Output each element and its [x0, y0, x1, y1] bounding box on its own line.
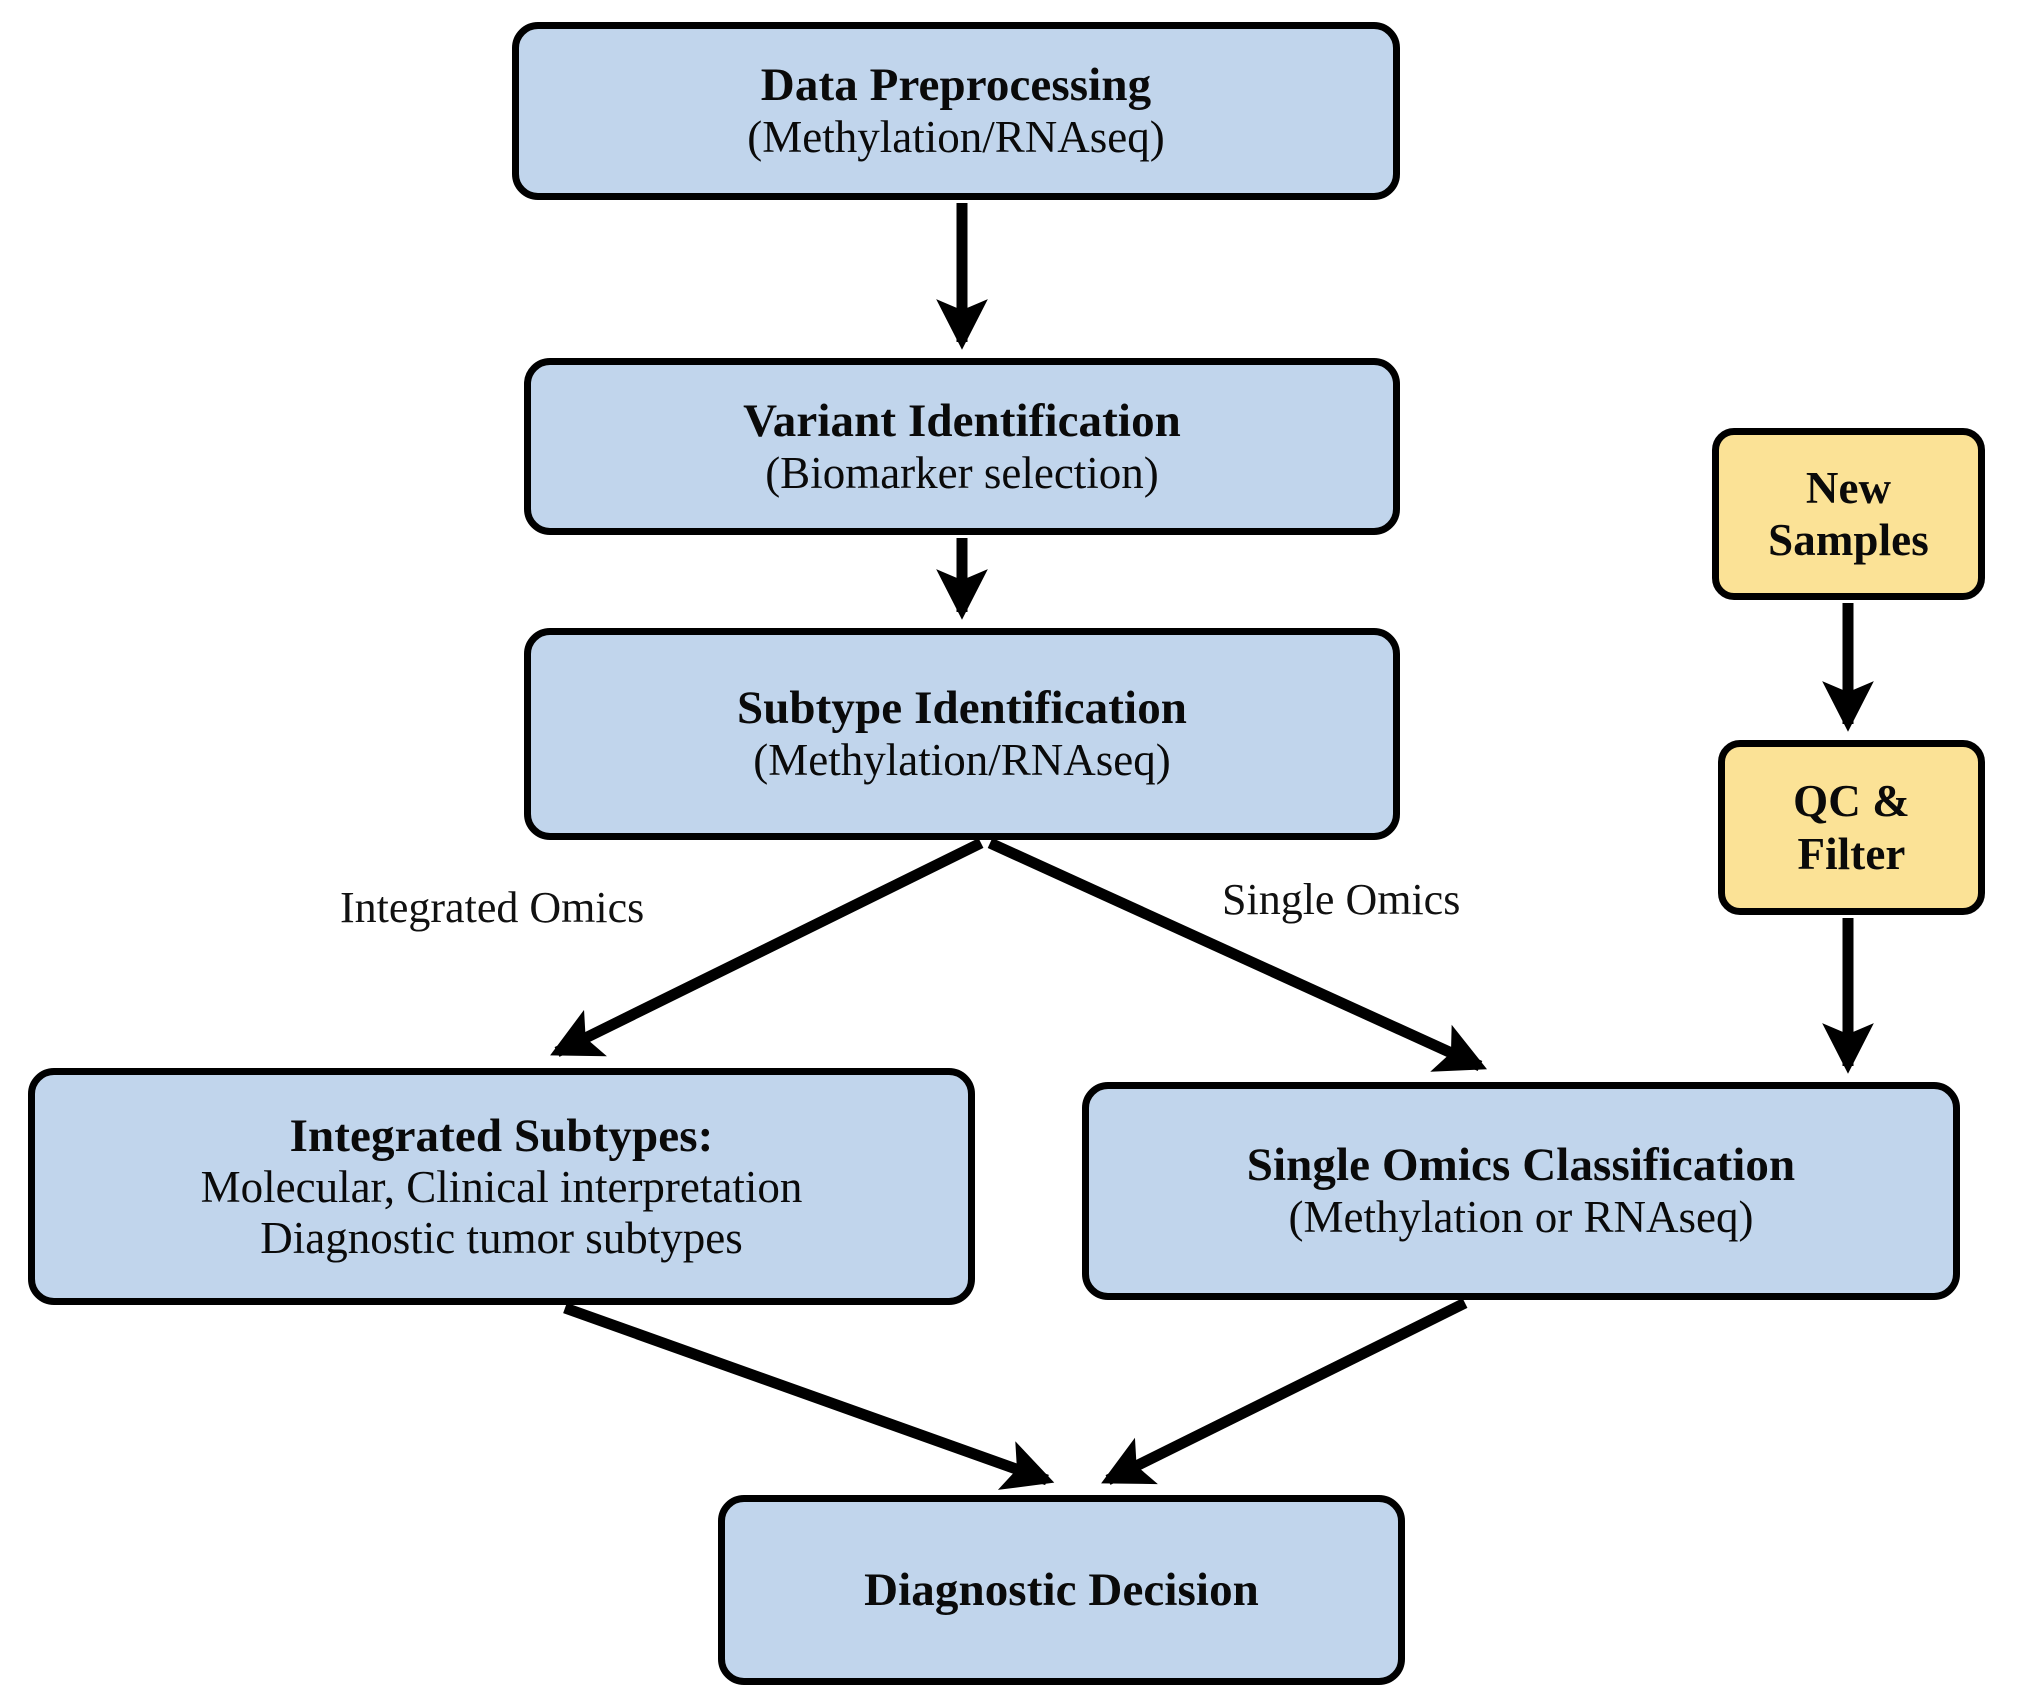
node-subtitle: (Methylation or RNAseq): [1289, 1192, 1754, 1242]
node-title: Single Omics Classification: [1247, 1139, 1795, 1192]
node-subtype-identification[interactable]: Subtype Identification (Methylation/RNAs…: [524, 628, 1400, 840]
node-variant-identification[interactable]: Variant Identification (Biomarker select…: [524, 358, 1400, 535]
node-title-line1: QC &: [1793, 775, 1910, 827]
node-title-line2: Filter: [1797, 828, 1905, 880]
node-title-line2: Samples: [1768, 514, 1929, 566]
edge-subtype-to-integrated: [557, 843, 981, 1052]
edge-integrated-to-decision: [565, 1308, 1047, 1480]
node-new-samples[interactable]: New Samples: [1712, 428, 1985, 600]
node-subtitle: (Biomarker selection): [765, 448, 1159, 498]
node-data-preprocessing[interactable]: Data Preprocessing (Methylation/RNAseq): [512, 22, 1400, 200]
node-subtitle-line1: Molecular, Clinical interpretation: [201, 1162, 803, 1212]
node-title: Data Preprocessing: [761, 59, 1151, 112]
node-title-line1: New: [1806, 462, 1891, 514]
node-diagnostic-decision[interactable]: Diagnostic Decision: [718, 1495, 1405, 1685]
node-single-omics-classification[interactable]: Single Omics Classification (Methylation…: [1082, 1082, 1960, 1300]
node-title: Variant Identification: [743, 395, 1181, 448]
edge-single-omics-to-decision: [1108, 1303, 1465, 1480]
edge-label-integrated-omics: Integrated Omics: [340, 882, 644, 933]
edge-label-single-omics: Single Omics: [1222, 874, 1460, 925]
node-title: Subtype Identification: [737, 682, 1187, 735]
flowchart-canvas: Data Preprocessing (Methylation/RNAseq) …: [0, 0, 2024, 1700]
node-subtitle: (Methylation/RNAseq): [753, 735, 1170, 785]
node-title: Diagnostic Decision: [864, 1564, 1259, 1617]
node-qc-filter[interactable]: QC & Filter: [1718, 740, 1985, 915]
node-subtitle-line2: Diagnostic tumor subtypes: [260, 1213, 742, 1263]
node-integrated-subtypes[interactable]: Integrated Subtypes: Molecular, Clinical…: [28, 1068, 975, 1305]
node-title: Integrated Subtypes:: [290, 1110, 714, 1163]
node-subtitle: (Methylation/RNAseq): [747, 112, 1164, 162]
